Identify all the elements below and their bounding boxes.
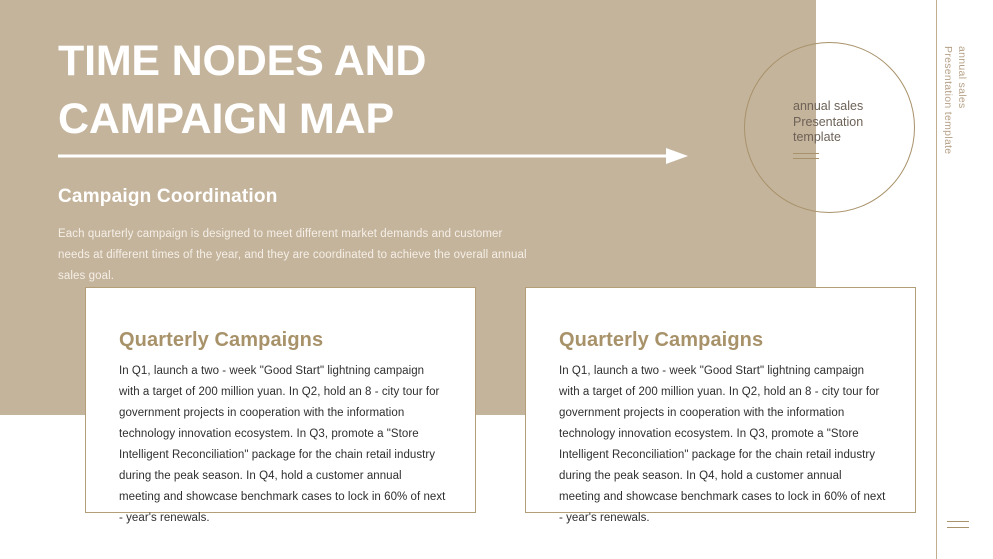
arrow-rule-icon: [58, 147, 688, 165]
right-rail-label: annual sales Presentation template: [941, 46, 969, 154]
right-rail-marks-icon: [947, 521, 969, 533]
right-rail-divider: [936, 0, 937, 559]
title-block: TIME NODES AND CAMPAIGN MAP: [58, 32, 698, 148]
card-body: In Q1, launch a two - week "Good Start" …: [559, 361, 886, 529]
card-body: In Q1, launch a two - week "Good Start" …: [119, 361, 446, 529]
rail-mark-line-1: [947, 521, 969, 522]
badge-rule-line-1: [793, 153, 819, 154]
card-title: Quarterly Campaigns: [119, 329, 323, 352]
circle-badge-rule-icon: [793, 153, 819, 163]
page-title: TIME NODES AND CAMPAIGN MAP: [58, 32, 698, 148]
lead-paragraph: Each quarterly campaign is designed to m…: [58, 224, 528, 287]
circle-badge-label: annual sales Presentation template: [793, 99, 903, 146]
rail-mark-line-2: [947, 527, 969, 528]
badge-rule-line-2: [793, 158, 819, 159]
card-quarterly-campaigns-left[interactable]: Quarterly Campaigns In Q1, launch a two …: [85, 287, 476, 513]
section-subtitle: Campaign Coordination: [58, 186, 278, 208]
card-title: Quarterly Campaigns: [559, 329, 763, 352]
slide-canvas: TIME NODES AND CAMPAIGN MAP Campaign Coo…: [0, 0, 993, 559]
card-quarterly-campaigns-right[interactable]: Quarterly Campaigns In Q1, launch a two …: [525, 287, 916, 513]
